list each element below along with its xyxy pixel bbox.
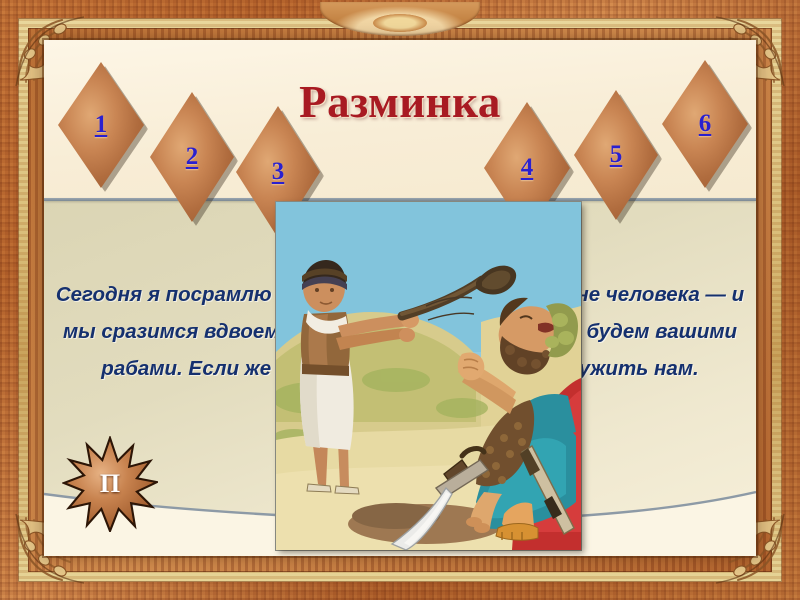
david-and-goliath-illustration[interactable]: [276, 202, 581, 550]
nav-diamond-6[interactable]: 6: [662, 60, 748, 188]
nav-diamond-label: 5: [574, 141, 658, 169]
nav-diamond-5[interactable]: 5: [574, 90, 658, 220]
slide-canvas-opening: Разминка 1 2 3: [44, 40, 756, 556]
starburst-badge-button[interactable]: П: [62, 436, 158, 532]
nav-diamond-label: 2: [150, 143, 234, 171]
nav-diamond-label: 3: [236, 158, 320, 186]
nav-diamond-label: 6: [662, 110, 748, 138]
starburst-badge-label: П: [62, 469, 158, 499]
nav-diamond-1[interactable]: 1: [58, 62, 144, 188]
nav-diamond-label: 1: [58, 111, 144, 139]
slide-stage: Разминка 1 2 3: [0, 0, 800, 600]
nav-diamond-2[interactable]: 2: [150, 92, 234, 222]
nav-diamond-label: 4: [484, 154, 570, 182]
slide-canvas: Разминка 1 2 3: [44, 40, 756, 556]
